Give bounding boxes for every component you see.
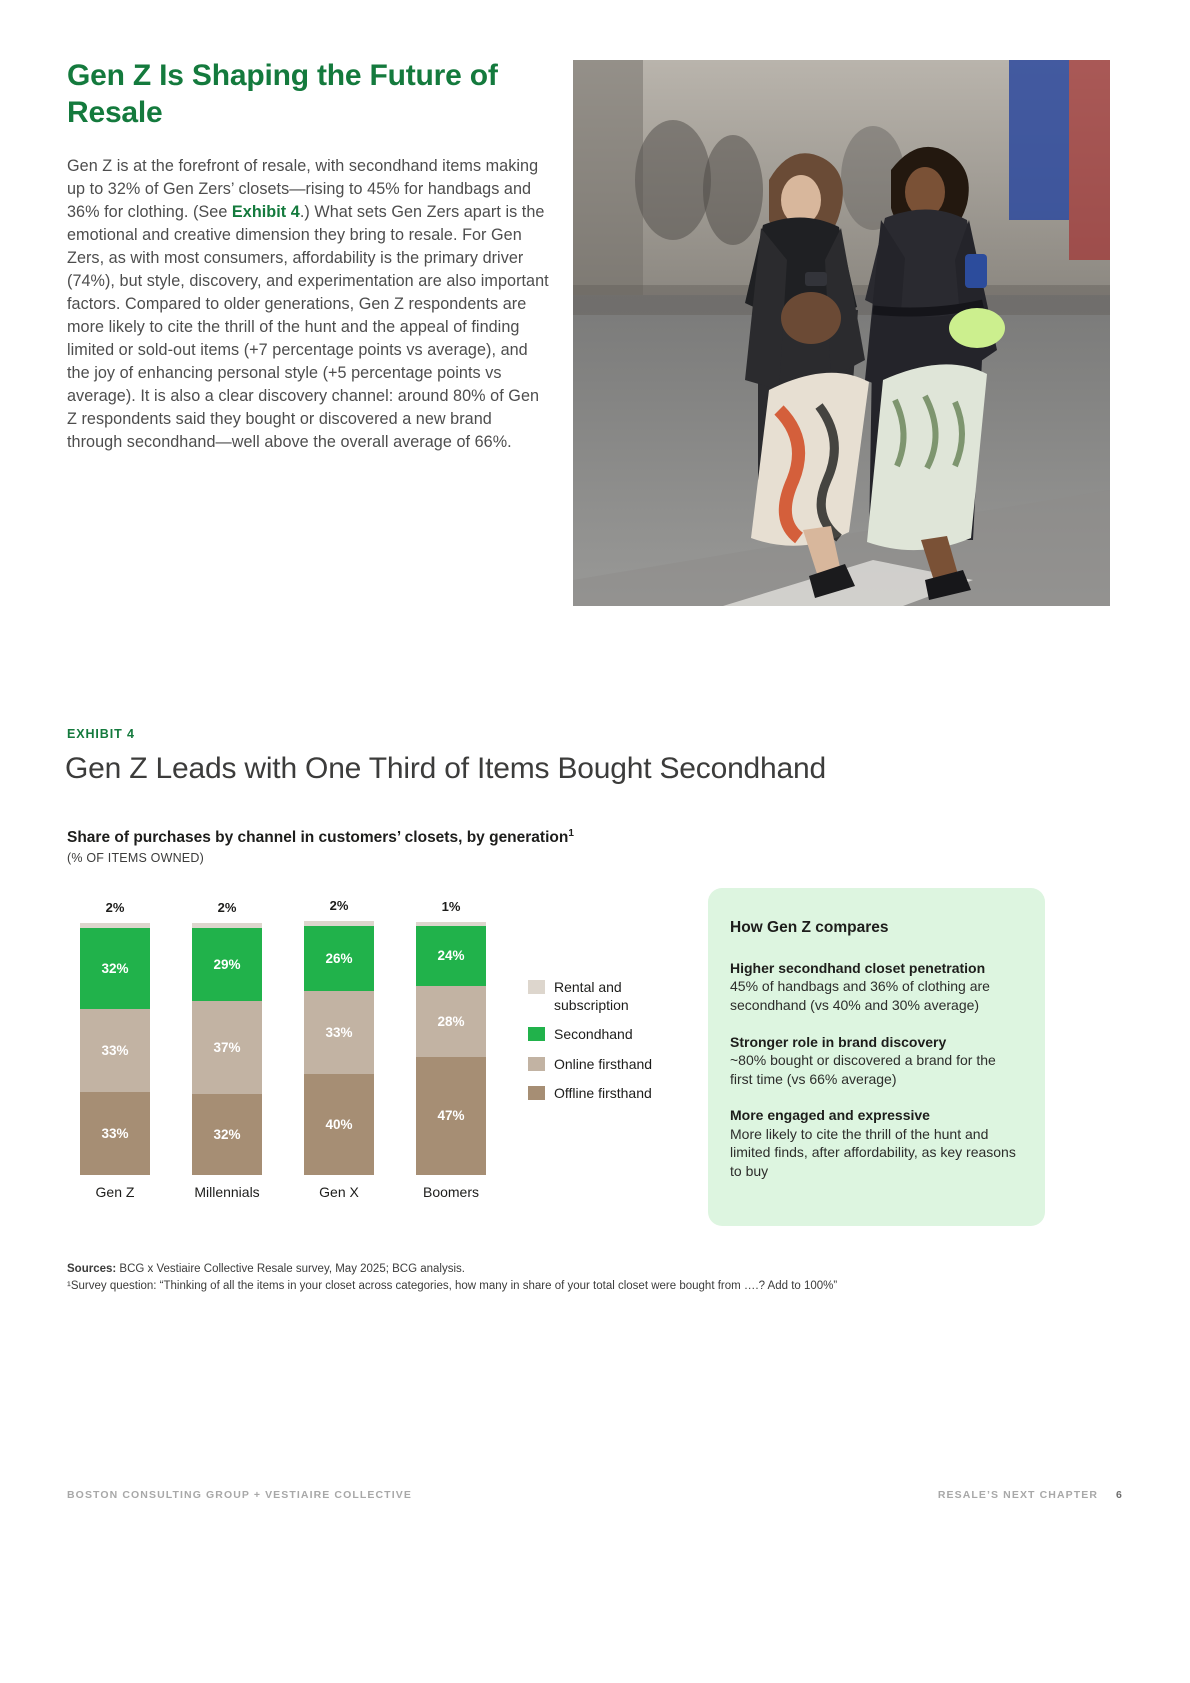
segment-value-label: 2% — [330, 898, 349, 913]
callout-block-heading: Higher secondhand closet penetration — [730, 959, 1017, 977]
bar-segment: 33% — [80, 1092, 150, 1175]
segment-value-label: 32% — [213, 1127, 240, 1142]
bar-segment: 24% — [416, 926, 486, 986]
legend-swatch-icon — [528, 1057, 545, 1071]
callout-block: Stronger role in brand discovery~80% bou… — [730, 1033, 1017, 1089]
bar-group: 2%29%37%32%Millennials — [192, 923, 262, 1175]
footer-publisher: BOSTON CONSULTING GROUP + VESTIAIRE COLL… — [67, 1489, 412, 1501]
segment-value-label: 29% — [213, 957, 240, 972]
survey-footnote: ¹Survey question: “Thinking of all the i… — [67, 1278, 1027, 1295]
segment-value-label: 26% — [325, 951, 352, 966]
bar-segment: 33% — [80, 1009, 150, 1092]
chart-units-label: (% OF ITEMS OWNED) — [67, 851, 204, 865]
callout-block-heading: More engaged and expressive — [730, 1106, 1017, 1124]
segment-value-label: 32% — [101, 961, 128, 976]
exhibit-label: EXHIBIT 4 — [67, 727, 135, 741]
segment-value-label: 37% — [213, 1040, 240, 1055]
bar-segment: 37% — [192, 1001, 262, 1094]
legend-item[interactable]: Offline firsthand — [528, 1084, 678, 1102]
sources-note: Sources: BCG x Vestiaire Collective Resa… — [67, 1261, 1027, 1296]
intro-text-part2: .) What sets Gen Zers apart is the emoti… — [67, 203, 549, 451]
legend-item[interactable]: Online firsthand — [528, 1055, 678, 1073]
sources-text: BCG x Vestiaire Collective Resale survey… — [116, 1263, 465, 1275]
segment-value-label: 28% — [437, 1014, 464, 1029]
bar-segment: 33% — [304, 991, 374, 1074]
footer-report-name: RESALE’S NEXT CHAPTER — [938, 1489, 1098, 1501]
callout-block-body: ~80% bought or discovered a brand for th… — [730, 1051, 1017, 1088]
gen-z-comparison-callout: How Gen Z compares Higher secondhand clo… — [708, 888, 1045, 1226]
segment-value-label: 2% — [106, 900, 125, 915]
chart-legend: Rental and subscriptionSecondhandOnline … — [528, 978, 678, 1113]
chart-subtitle: Share of purchases by channel in custome… — [67, 828, 574, 847]
legend-label: Secondhand — [554, 1025, 633, 1043]
stacked-bar-chart: 2%32%33%33%Gen Z2%29%37%32%Millennials2%… — [67, 888, 507, 1208]
segment-value-label: 24% — [437, 948, 464, 963]
segment-value-label: 2% — [218, 900, 237, 915]
chart-subtitle-text: Share of purchases by channel in custome… — [67, 829, 568, 846]
chart-subtitle-footnote-marker: 1 — [568, 828, 574, 839]
bar-segment: 47% — [416, 1057, 486, 1175]
category-label: Millennials — [194, 1184, 259, 1200]
intro-column: Gen Z Is Shaping the Future of Resale Ge… — [67, 58, 549, 454]
street-style-photo-illustration — [573, 60, 1110, 606]
bar-segment: 40% — [304, 1074, 374, 1175]
bar-segment: 28% — [416, 986, 486, 1057]
callout-blocks: Higher secondhand closet penetration45% … — [730, 959, 1017, 1181]
exhibit-reference-link[interactable]: Exhibit 4 — [232, 203, 300, 221]
bar-segment: 26% — [304, 926, 374, 992]
legend-label: Rental and subscription — [554, 978, 678, 1014]
hero-photo — [573, 60, 1110, 606]
legend-item[interactable]: Secondhand — [528, 1025, 678, 1043]
bar-segment: 32% — [80, 928, 150, 1009]
callout-block-body: 45% of handbags and 36% of clothing are … — [730, 977, 1017, 1014]
callout-block: More engaged and expressiveMore likely t… — [730, 1106, 1017, 1180]
page-number: 6 — [1116, 1489, 1123, 1501]
legend-swatch-icon — [528, 980, 545, 994]
legend-swatch-icon — [528, 1086, 545, 1100]
page-headline: Gen Z Is Shaping the Future of Resale — [67, 58, 549, 131]
segment-value-label: 40% — [325, 1117, 352, 1132]
footer-right: RESALE’S NEXT CHAPTER 6 — [938, 1489, 1123, 1501]
callout-block-body: More likely to cite the thrill of the hu… — [730, 1125, 1017, 1181]
category-label: Boomers — [423, 1184, 479, 1200]
segment-value-label: 33% — [325, 1025, 352, 1040]
segment-value-label: 33% — [101, 1043, 128, 1058]
legend-label: Offline firsthand — [554, 1084, 652, 1102]
legend-swatch-icon — [528, 1027, 545, 1041]
category-label: Gen Z — [96, 1184, 135, 1200]
category-label: Gen X — [319, 1184, 359, 1200]
legend-label: Online firsthand — [554, 1055, 652, 1073]
segment-value-label: 47% — [437, 1108, 464, 1123]
bar-segment: 29% — [192, 928, 262, 1001]
callout-block-heading: Stronger role in brand discovery — [730, 1033, 1017, 1051]
segment-value-label: 1% — [442, 899, 461, 914]
sources-line: Sources: BCG x Vestiaire Collective Resa… — [67, 1261, 1027, 1278]
report-page: Gen Z Is Shaping the Future of Resale Ge… — [0, 0, 1190, 1683]
exhibit-title: Gen Z Leads with One Third of Items Boug… — [65, 752, 826, 786]
bar-segment: 32% — [192, 1094, 262, 1175]
bar-group: 1%24%28%47%Boomers — [416, 922, 486, 1175]
legend-item[interactable]: Rental and subscription — [528, 978, 678, 1014]
intro-paragraph: Gen Z is at the forefront of resale, wit… — [67, 155, 549, 454]
segment-value-label: 33% — [101, 1126, 128, 1141]
sources-label: Sources: — [67, 1263, 116, 1275]
bar-group: 2%32%33%33%Gen Z — [80, 923, 150, 1175]
bar-group: 2%26%33%40%Gen X — [304, 921, 374, 1176]
callout-title: How Gen Z compares — [730, 919, 1017, 937]
callout-block: Higher secondhand closet penetration45% … — [730, 959, 1017, 1015]
